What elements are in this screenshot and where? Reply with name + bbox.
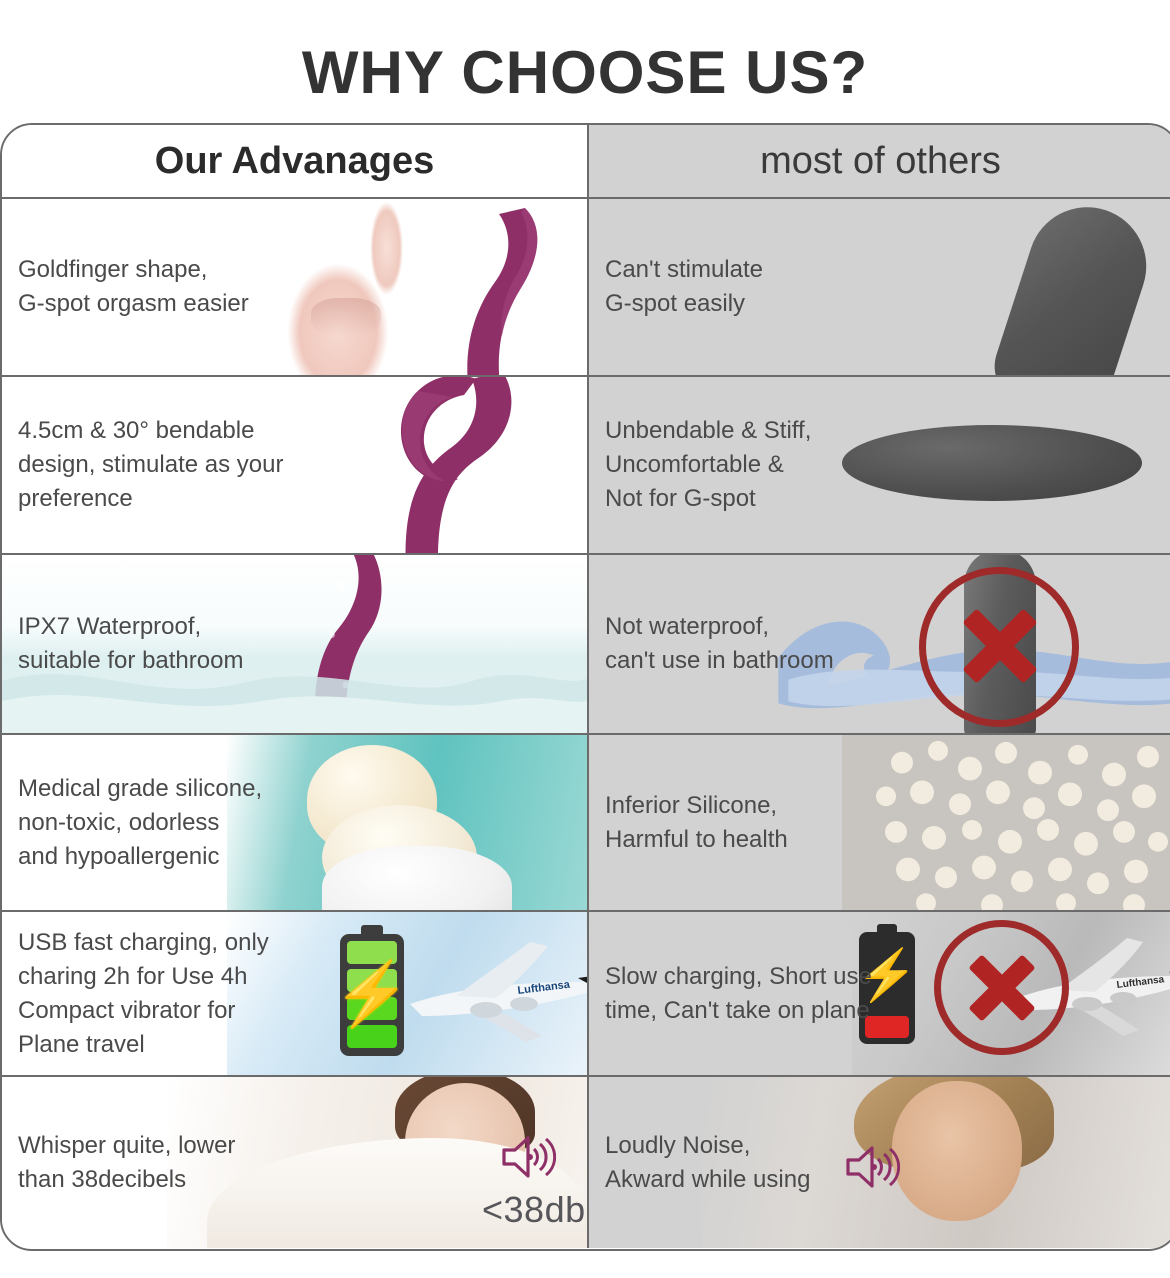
header-cell-others: most of others xyxy=(587,125,1170,197)
table-row: Lufthansa ⚡ USB fast charging, only char… xyxy=(2,910,1170,1075)
row-goldfinger-ours: Goldfinger shape, G-spot orgasm easier xyxy=(2,199,587,375)
comparison-table: Our Advanages most of others Gold xyxy=(0,123,1170,1251)
dark-wand-icon xyxy=(984,199,1161,375)
row-charging-others: Lufthansa ⚡ Slow charging, Short use tim… xyxy=(587,912,1170,1075)
row-text-ours: 4.5cm & 30° bendable design, stimulate a… xyxy=(18,414,283,516)
table-header-row: Our Advanages most of others xyxy=(2,125,1170,197)
table-row: 4.5cm & 30° bendable design, stimulate a… xyxy=(2,375,1170,553)
row-text-ours: USB fast charging, only charing 2h for U… xyxy=(18,925,269,1061)
bent-wand-icon xyxy=(352,377,527,553)
row-text-ours: Medical grade silicone, non-toxic, odorl… xyxy=(18,771,262,873)
face-shape xyxy=(405,1083,525,1201)
speaker-quiet-icon xyxy=(500,1129,556,1185)
airplane-icon: Lufthansa xyxy=(400,930,587,1050)
row-text-ours: IPX7 Waterproof, suitable for bathroom xyxy=(18,610,243,678)
purple-wand-icon xyxy=(302,555,386,733)
pellet-cluster-icon xyxy=(842,735,1170,910)
battery-segment xyxy=(347,969,397,992)
table-row: <38db Whisper quite, lower than 38decibe… xyxy=(2,1075,1170,1248)
glove-icon xyxy=(322,846,512,910)
silicone-implant-icon xyxy=(307,745,437,855)
dark-wand-icon xyxy=(964,555,1036,733)
row-goldfinger-others: Can't stimulate G-spot easily xyxy=(587,199,1170,375)
prohibition-circle-icon xyxy=(919,567,1079,727)
hand-illustration xyxy=(257,199,437,375)
row-text-ours: Goldfinger shape, G-spot orgasm easier xyxy=(18,253,249,321)
lightning-bolt-icon: ⚡ xyxy=(333,964,410,1026)
row-text-others: Can't stimulate G-spot easily xyxy=(605,253,763,321)
header-label-others: most of others xyxy=(589,125,1170,197)
why-choose-us-infographic: WHY CHOOSE US? Our Advanages most of oth… xyxy=(0,0,1170,1278)
red-x-icon xyxy=(967,953,1037,1023)
header-cell-ours: Our Advanages xyxy=(2,125,587,197)
row-text-others: Slow charging, Short use time, Can't tak… xyxy=(605,959,872,1027)
row-silicone-ours: Medical grade silicone, non-toxic, odorl… xyxy=(2,735,587,910)
row-silicone-others: Inferior Silicone, Harmful to health xyxy=(587,735,1170,910)
battery-segment xyxy=(347,1025,397,1048)
purple-wand-icon xyxy=(455,208,547,375)
row-text-others: Inferior Silicone, Harmful to health xyxy=(605,788,788,856)
row-text-others: Unbendable & Stiff, Uncomfortable & Not … xyxy=(605,414,811,516)
silicone-implant-icon xyxy=(322,805,477,910)
decibel-badge: <38db xyxy=(482,1189,586,1231)
row-bendable-others: Unbendable & Stiff, Uncomfortable & Not … xyxy=(587,377,1170,553)
sky-background xyxy=(227,912,587,1075)
dark-oval-icon xyxy=(842,425,1142,501)
row-text-others: Loudly Noise, Akward while using xyxy=(605,1128,810,1196)
face-shape xyxy=(892,1081,1022,1221)
svg-text:Lufthansa: Lufthansa xyxy=(1116,974,1165,991)
pillow-shape xyxy=(207,1138,587,1248)
red-x-icon xyxy=(959,605,1041,687)
row-noise-ours: <38db Whisper quite, lower than 38decibe… xyxy=(2,1077,587,1248)
table-row: Goldfinger shape, G-spot orgasm easier C… xyxy=(2,197,1170,375)
row-charging-ours: Lufthansa ⚡ USB fast charging, only char… xyxy=(2,912,587,1075)
battery-segment xyxy=(347,941,397,964)
row-waterproof-others: Not waterproof, can't use in bathroom xyxy=(587,555,1170,733)
row-text-ours: Whisper quite, lower than 38decibels xyxy=(18,1128,235,1196)
table-row: Medical grade silicone, non-toxic, odorl… xyxy=(2,733,1170,910)
airplane-icon: Lufthansa xyxy=(1009,926,1170,1046)
row-noise-others: Loudly Noise, Akward while using xyxy=(587,1077,1170,1248)
sky-background xyxy=(852,912,1170,1075)
doctor-scrubs-background xyxy=(227,735,587,910)
hair-shape xyxy=(854,1077,1054,1173)
full-battery-icon: ⚡ xyxy=(340,934,404,1056)
svg-text:Lufthansa: Lufthansa xyxy=(517,979,572,997)
page-title: WHY CHOOSE US? xyxy=(0,38,1170,107)
table-row: IPX7 Waterproof, suitable for bathroom N… xyxy=(2,553,1170,733)
row-waterproof-ours: IPX7 Waterproof, suitable for bathroom xyxy=(2,555,587,733)
row-text-others: Not waterproof, can't use in bathroom xyxy=(605,610,834,678)
prohibition-circle-icon xyxy=(934,920,1069,1055)
hair-shape xyxy=(395,1077,535,1155)
row-bendable-ours: 4.5cm & 30° bendable design, stimulate a… xyxy=(2,377,587,553)
battery-segment xyxy=(347,997,397,1020)
speaker-loud-icon xyxy=(844,1139,900,1195)
header-label-ours: Our Advanages xyxy=(2,125,587,197)
